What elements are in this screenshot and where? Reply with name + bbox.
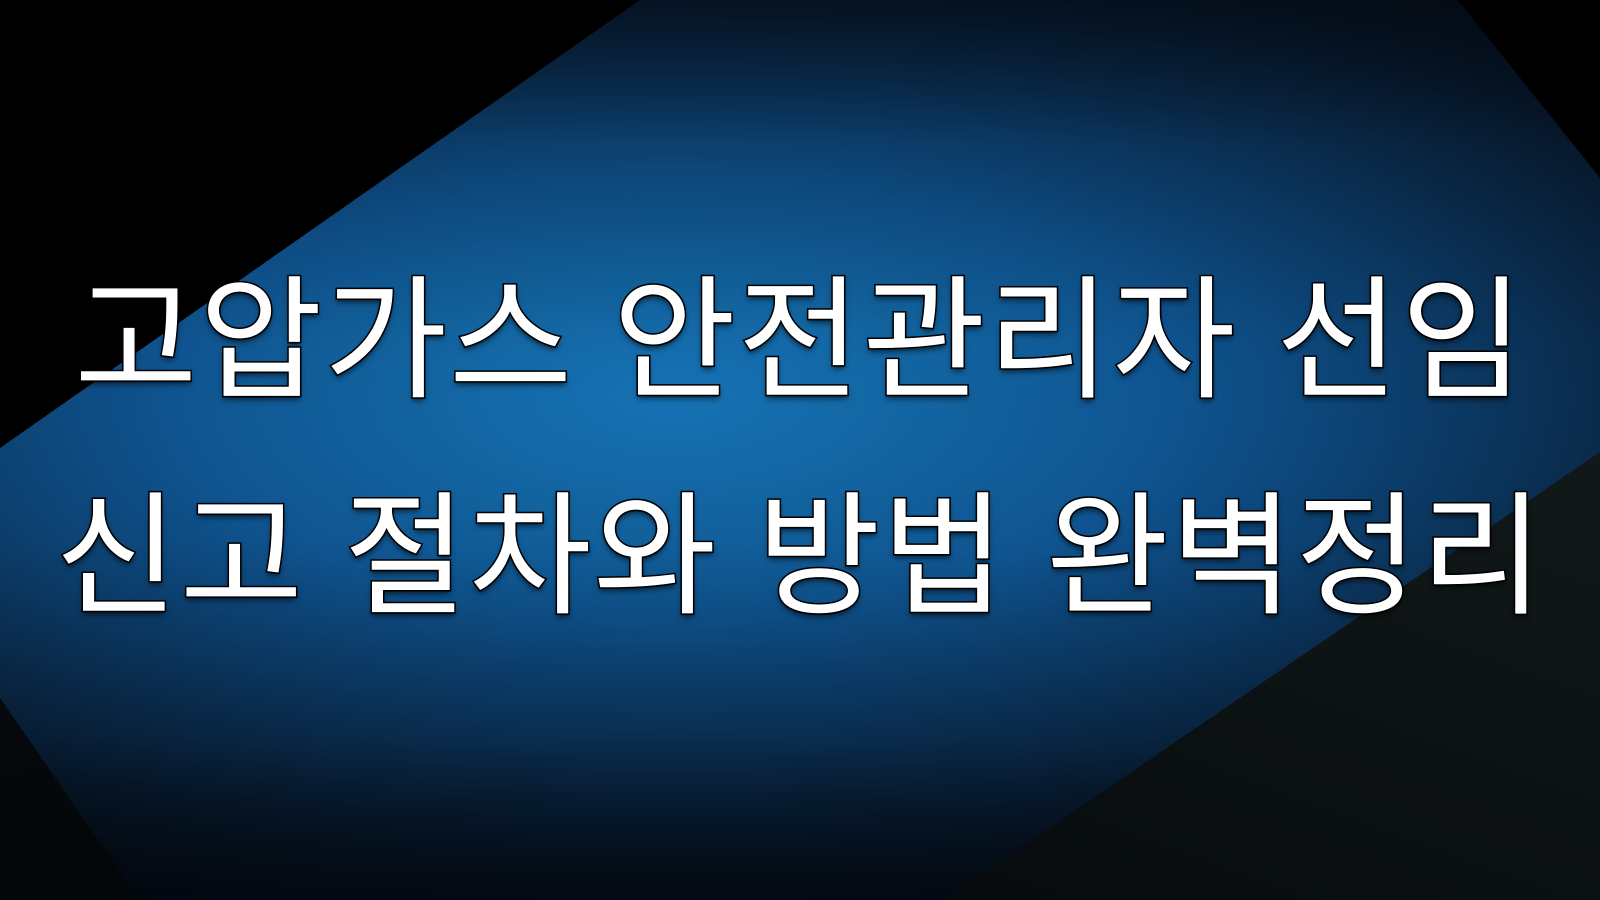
title-text-block: 고압가스 안전관리자 선임 신고 절차와 방법 완벽정리 <box>0 0 1600 900</box>
title-line-2: 신고 절차와 방법 완벽정리 <box>55 487 1545 629</box>
title-line-1: 고압가스 안전관리자 선임 <box>74 271 1525 413</box>
title-card-slide: 고압가스 안전관리자 선임 신고 절차와 방법 완벽정리 <box>0 0 1600 900</box>
